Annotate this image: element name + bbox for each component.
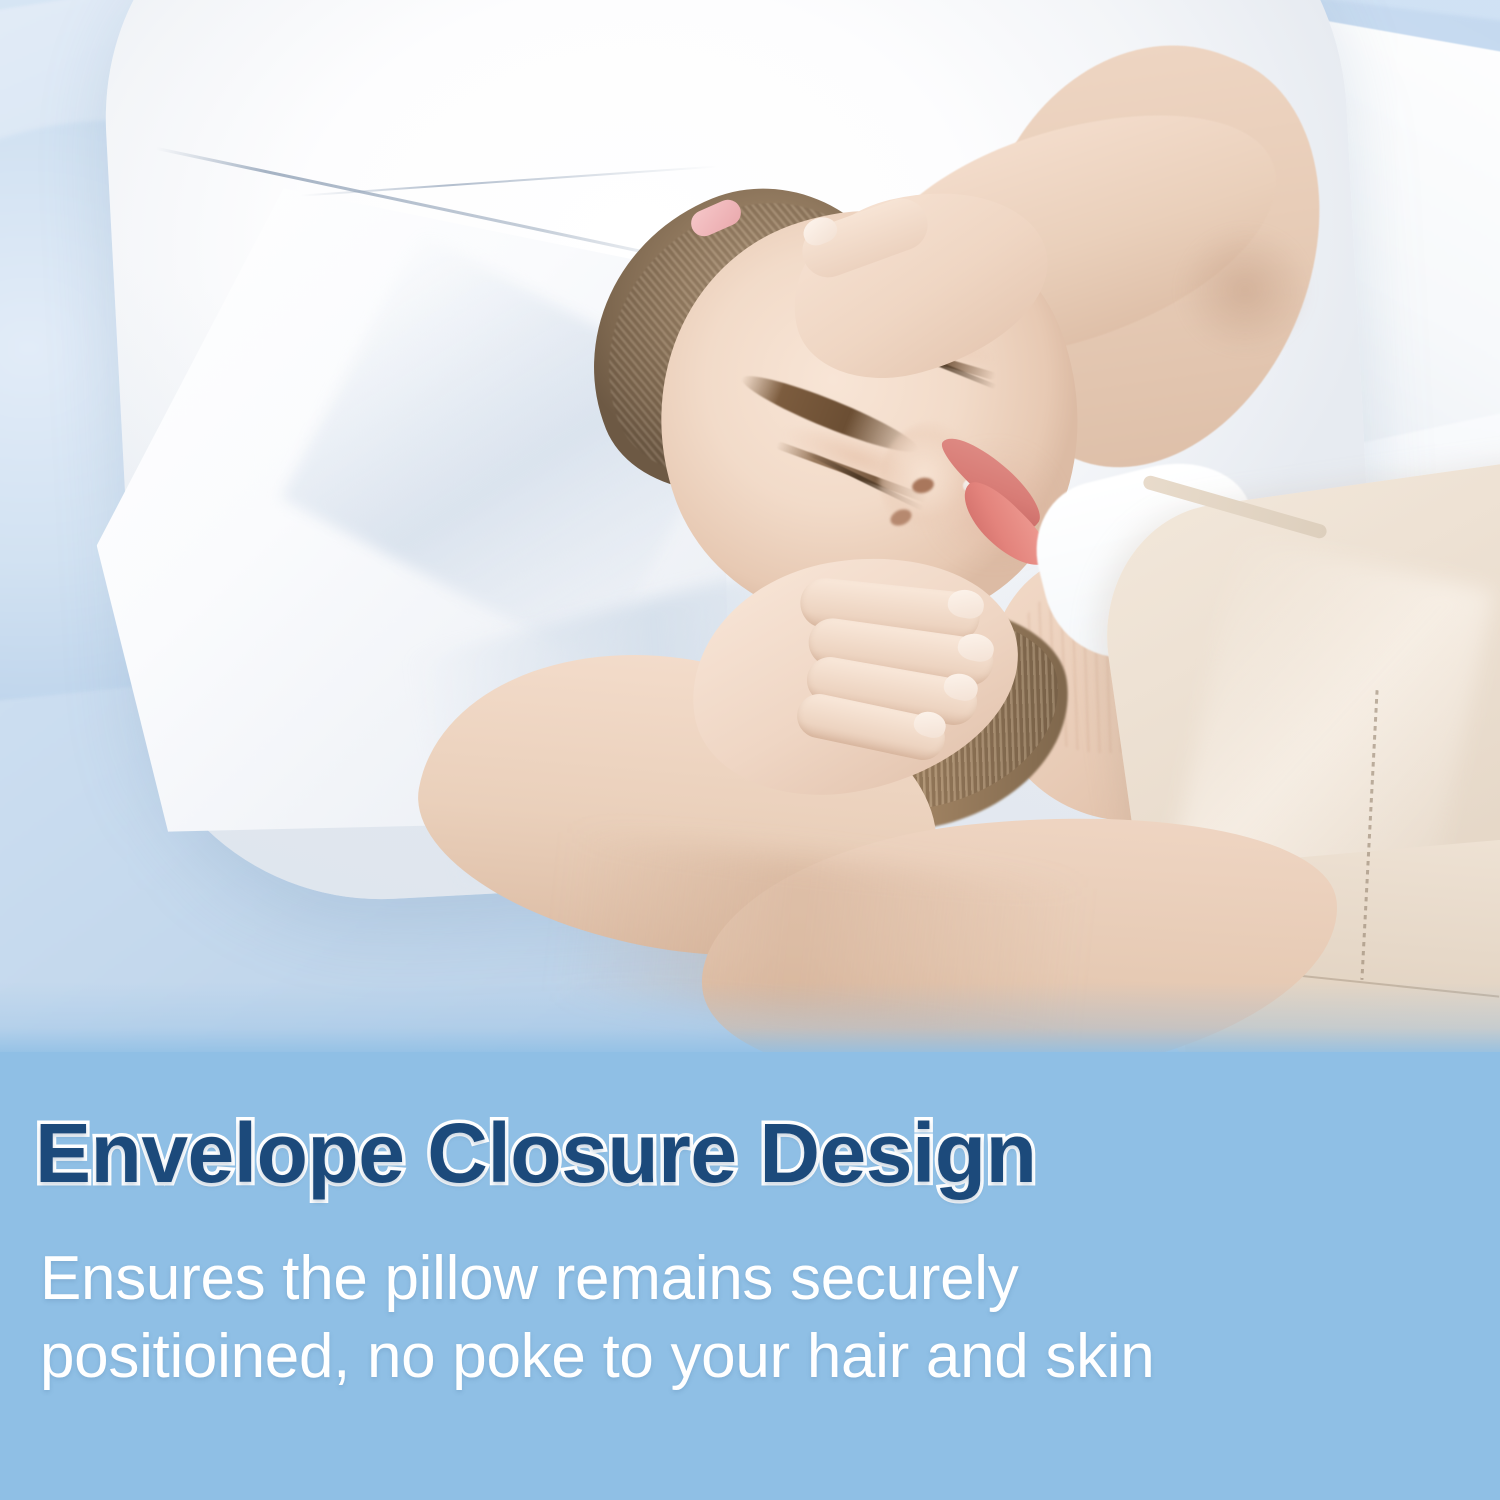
elbow-shadow bbox=[1150, 200, 1340, 380]
feature-subtitle-line-2: positioined, no poke to your hair and sk… bbox=[40, 1318, 1380, 1396]
product-feature-card: Envelope Closure Design Ensures the pill… bbox=[0, 0, 1500, 1500]
feature-title: Envelope Closure Design bbox=[35, 1105, 1036, 1202]
feature-subtitle: Ensures the pillow remains securely posi… bbox=[40, 1240, 1380, 1396]
feature-subtitle-line-1: Ensures the pillow remains securely bbox=[40, 1240, 1380, 1318]
lifestyle-photo bbox=[0, 0, 1500, 1052]
photo-bottom-fade bbox=[0, 982, 1500, 1052]
